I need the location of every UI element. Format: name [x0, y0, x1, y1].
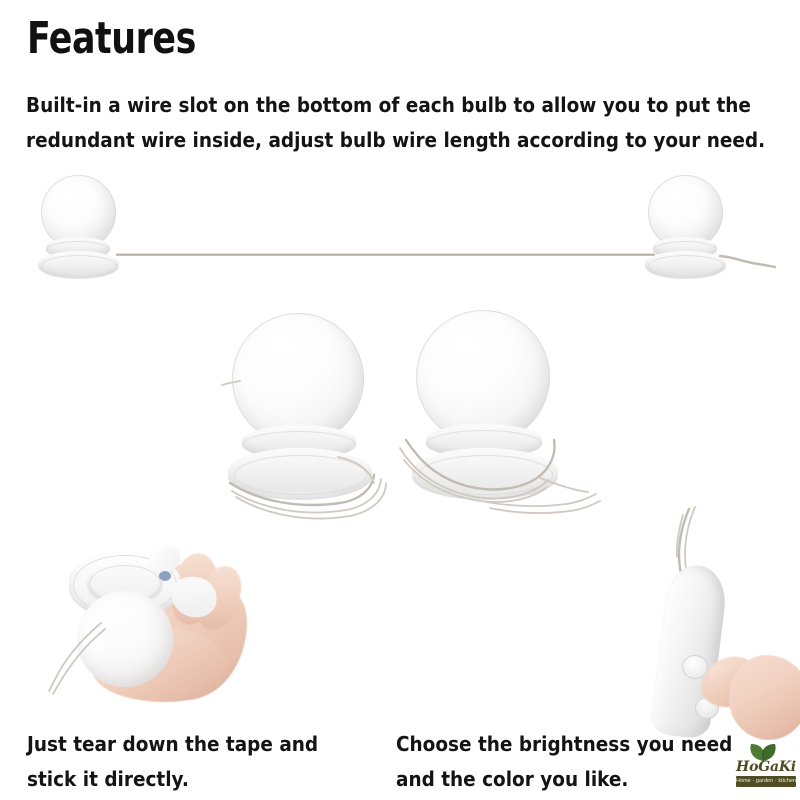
brand-logo: HoGaKi Home · garden · kitchen: [736, 742, 796, 790]
bulb-base-ring: [418, 455, 553, 495]
product-photo-peel-tape: [45, 535, 295, 725]
caption-right: Choose the brightness you need and the c…: [396, 727, 732, 797]
logo-wordmark: HoGaKi: [736, 760, 796, 775]
intro-paragraph: Built-in a wire slot on the bottom of ea…: [26, 88, 737, 158]
led-vanity-bulb-wire-coiled-right: [412, 310, 567, 528]
led-vanity-bulb-right: [645, 175, 727, 290]
product-photo-wire-slot: [200, 305, 620, 540]
caption-right-line-1: Choose the brightness you need: [396, 727, 732, 762]
led-vanity-bulb-left: [38, 175, 120, 290]
product-photo-controller: [625, 505, 800, 740]
bulb-base-ring: [234, 455, 367, 495]
connecting-wire: [116, 253, 655, 256]
tape-contact-point: [159, 571, 171, 581]
caption-left: Just tear down the tape and stick it dir…: [27, 727, 318, 797]
infographic-page: Features Built-in a wire slot on the bot…: [0, 0, 800, 800]
product-photo-top-strip: [0, 165, 800, 295]
bulb-globe: [77, 591, 173, 687]
page-title: Features: [27, 14, 196, 64]
bulb-base-ring: [41, 255, 117, 277]
intro-line-2: redundant wire inside, adjust bulb wire …: [26, 123, 737, 158]
caption-right-line-2: and the color you like.: [396, 762, 732, 797]
hand: [729, 655, 800, 740]
intro-line-1: Built-in a wire slot on the bottom of ea…: [26, 88, 737, 123]
caption-left-line-2: stick it directly.: [27, 762, 318, 797]
logo-tagline: Home · garden · kitchen: [736, 776, 796, 787]
led-vanity-bulb-held: [63, 551, 188, 691]
wire-tail-right: [718, 247, 778, 273]
bulb-base-ring: [648, 255, 724, 277]
caption-left-line-1: Just tear down the tape and: [27, 727, 318, 762]
led-vanity-bulb-wire-coiled-left: [228, 313, 378, 528]
